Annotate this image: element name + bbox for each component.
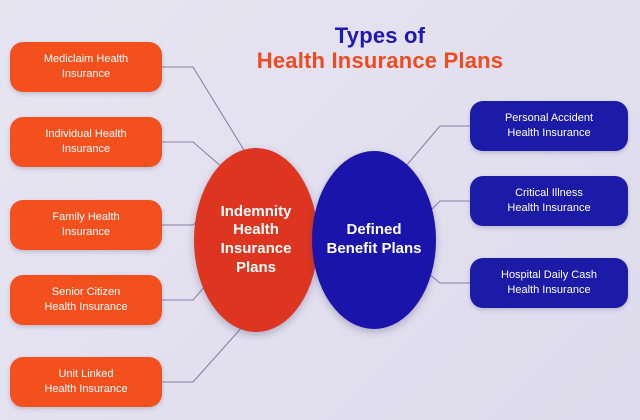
connector-left-1 (162, 67, 247, 155)
leaf-label-line-2: Insurance (52, 225, 119, 240)
hub-label-line-1: Defined (326, 221, 421, 240)
title-line-2: Health Insurance Plans (230, 49, 530, 74)
leaf-label-line-1: Critical Illness (507, 186, 590, 201)
leaf-hospital-daily-cash-health-insurance[interactable]: Hospital Daily Cash Health Insurance (470, 258, 628, 308)
leaf-unit-linked-health-insurance[interactable]: Unit Linked Health Insurance (10, 357, 162, 407)
leaf-label-line-1: Mediclaim Health (44, 52, 128, 67)
leaf-label-line-2: Health Insurance (501, 283, 597, 298)
connector-left-5 (162, 325, 244, 382)
leaf-label-line-2: Insurance (44, 67, 128, 82)
leaf-label-line-1: Family Health (52, 210, 119, 225)
leaf-senior-citizen-health-insurance[interactable]: Senior Citizen Health Insurance (10, 275, 162, 325)
page-title: Types of Health Insurance Plans (230, 24, 530, 73)
leaf-personal-accident-health-insurance[interactable]: Personal Accident Health Insurance (470, 101, 628, 151)
hub-defined-benefit-plans[interactable]: Defined Benefit Plans (312, 151, 436, 329)
leaf-label-line-2: Health Insurance (505, 126, 593, 141)
leaf-label-line-1: Senior Citizen (44, 285, 127, 300)
leaf-label-line-1: Hospital Daily Cash (501, 268, 597, 283)
infographic-canvas: Types of Health Insurance Plans Mediclai… (0, 0, 640, 420)
hub-label-line-1: Indemnity (221, 203, 292, 222)
title-line-1: Types of (230, 24, 530, 49)
leaf-label-line-2: Health Insurance (507, 201, 590, 216)
leaf-critical-illness-health-insurance[interactable]: Critical Illness Health Insurance (470, 176, 628, 226)
hub-label-line-3: Insurance (221, 240, 292, 259)
hub-label-line-2: Health (221, 221, 292, 240)
leaf-family-health-insurance[interactable]: Family Health Insurance (10, 200, 162, 250)
leaf-label-line-2: Health Insurance (44, 300, 127, 315)
hub-indemnity-health-insurance-plans[interactable]: Indemnity Health Insurance Plans (194, 148, 318, 332)
leaf-label-line-1: Personal Accident (505, 111, 593, 126)
hub-label-line-4: Plans (221, 259, 292, 278)
hub-label-line-2: Benefit Plans (326, 240, 421, 259)
leaf-label-line-1: Individual Health (45, 127, 126, 142)
leaf-individual-health-insurance[interactable]: Individual Health Insurance (10, 117, 162, 167)
leaf-label-line-2: Health Insurance (44, 382, 127, 397)
leaf-label-line-1: Unit Linked (44, 367, 127, 382)
leaf-mediclaim-health-insurance[interactable]: Mediclaim Health Insurance (10, 42, 162, 92)
leaf-label-line-2: Insurance (45, 142, 126, 157)
